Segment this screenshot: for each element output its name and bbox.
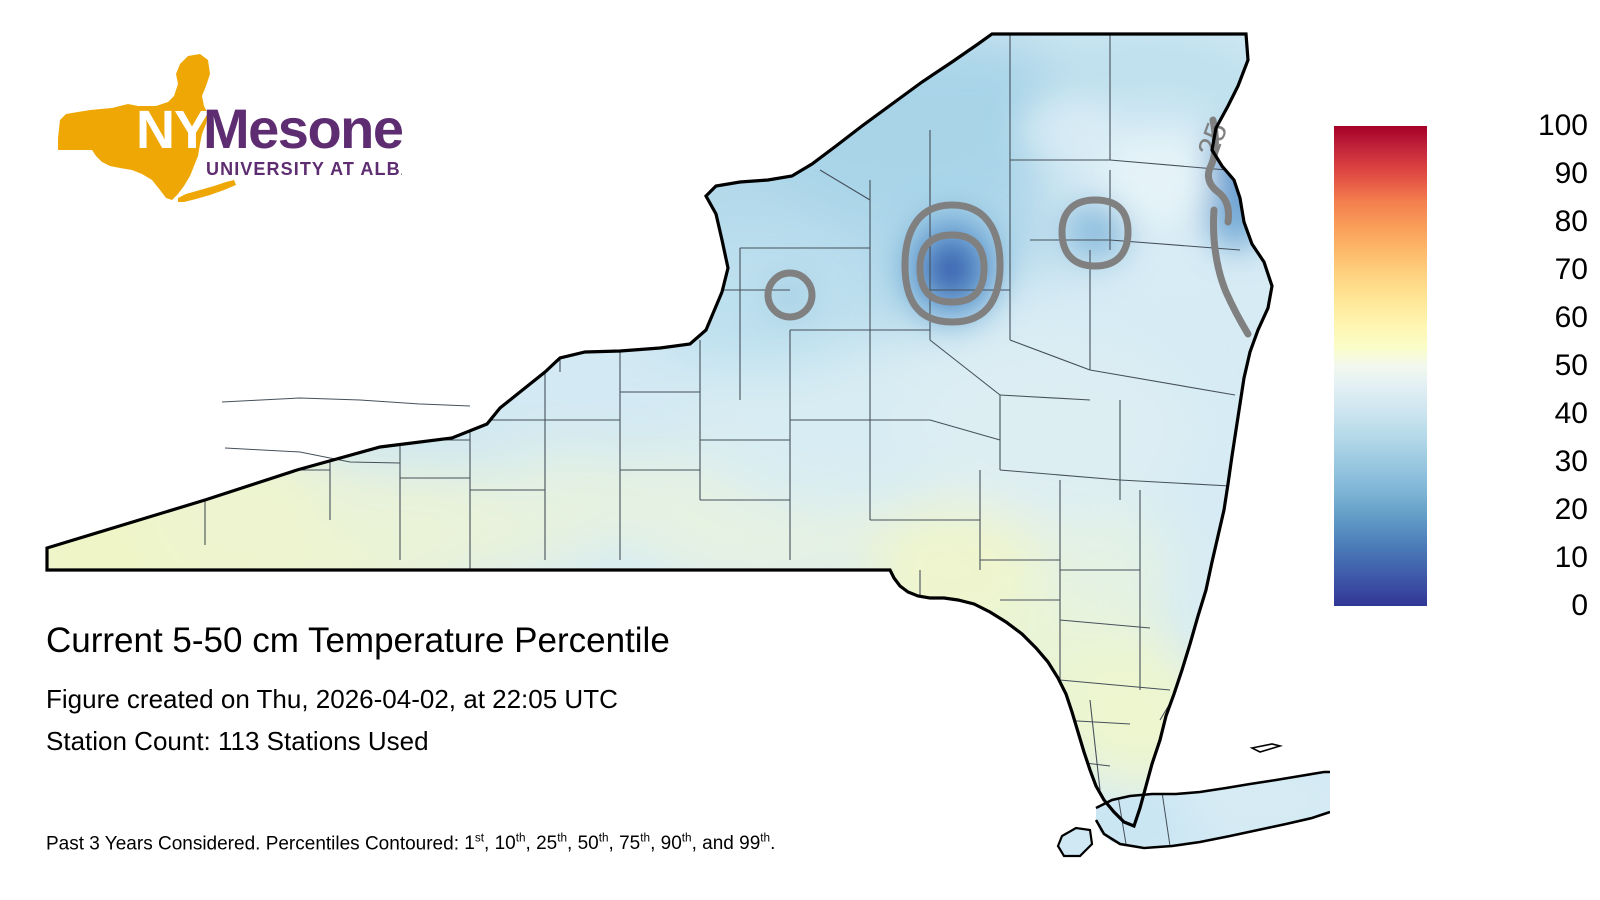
colorbar-tick-100: 100 [1432,111,1588,141]
staten-island [1058,828,1092,856]
footnote-level-90: 90th, [661,833,703,854]
logo-mesonet-text: Mesonet [203,97,402,160]
logo-subtitle: UNIVERSITY AT ALBANY [206,159,402,179]
figure-created-line: Figure created on Thu, 2026-04-02, at 22… [46,678,1046,720]
caption-block: Current 5-50 cm Temperature Percentile F… [46,618,1046,762]
colorbar-tick-60: 60 [1432,303,1588,333]
colorbar-gradient [1334,126,1427,606]
fishers-island [1252,744,1280,752]
footnote-level-50: 50th, [578,833,620,854]
footnote-level-10: 10th, [495,833,537,854]
colorbar-tick-50: 50 [1432,351,1588,381]
colorbar-tick-40: 40 [1432,399,1588,429]
footnote-level-25: 25th, [536,833,578,854]
footnote-lead: Past 3 Years Considered. Percentiles Con… [46,833,464,854]
footnote-level-1: 1st, [464,833,494,854]
colorbar-tick-labels: 100 90 80 70 60 50 40 30 20 10 0 [1432,126,1592,606]
colorbar-tick-80: 80 [1432,207,1588,237]
figure-canvas: 25 NYS Mesonet UNIVERSITY AT ALBANY 100 [0,0,1600,900]
footnote-level-99: and 99th. [702,833,775,854]
colorbar-tick-70: 70 [1432,255,1588,285]
footnote-levels: 1st, 10th, 25th, 50th, 75th, 90th, and 9… [464,833,775,854]
contour-footnote: Past 3 Years Considered. Percentiles Con… [46,827,775,856]
colorbar: 100 90 80 70 60 50 40 30 20 10 0 [1334,126,1594,608]
colorbar-tick-0: 0 [1432,591,1588,621]
colorbar-tick-20: 20 [1432,495,1588,525]
logo-long-island [178,180,236,202]
station-count-line: Station Count: 113 Stations Used [46,720,1046,762]
colorbar-tick-30: 30 [1432,447,1588,477]
nys-mesonet-logo: NYS Mesonet UNIVERSITY AT ALBANY [52,52,402,204]
colorbar-tick-90: 90 [1432,159,1588,189]
colorbar-tick-10: 10 [1432,543,1588,573]
figure-title: Current 5-50 cm Temperature Percentile [46,618,1046,664]
footnote-level-75: 75th, [619,833,661,854]
